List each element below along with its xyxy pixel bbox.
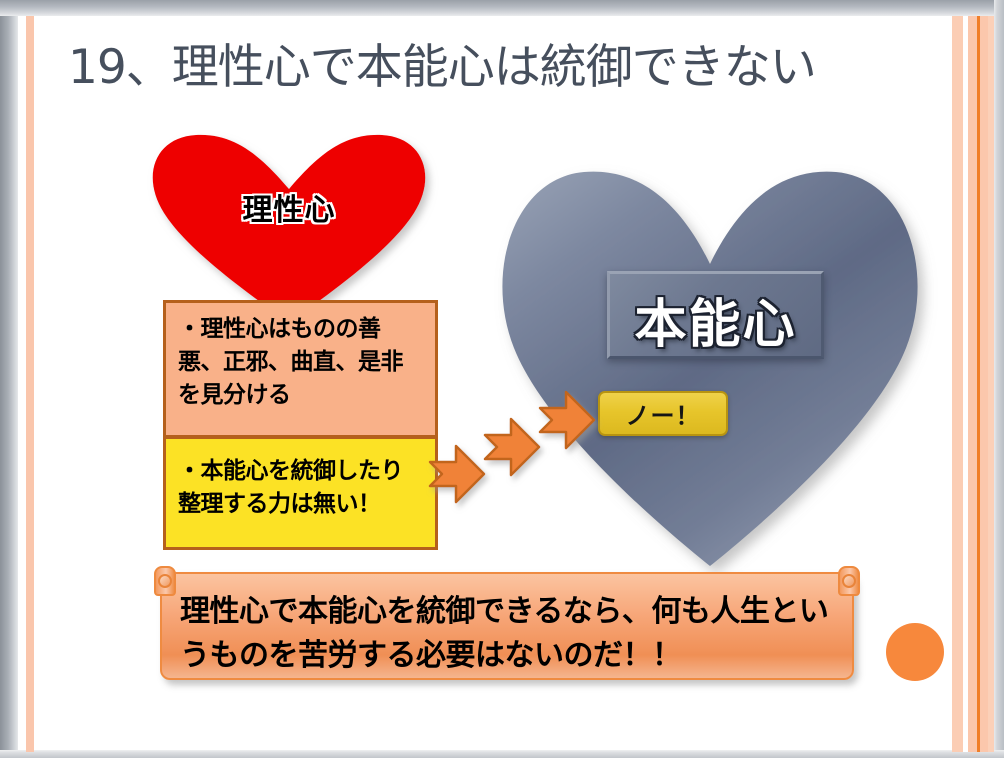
decor-stripe-right-3 [988,16,994,752]
decor-circle [886,623,944,681]
page-title: 19、理性心で本能心は統御できない [68,38,816,98]
frame-border-right [994,0,1004,758]
rational-limits-box: ・本能心を統御したり整理する力は無い！ [163,437,438,550]
decor-stripe-left [26,16,34,752]
decor-stripe-right-line [977,16,980,752]
chevron-arrow-right-icon-1 [430,446,484,502]
frame-border-left [0,0,18,758]
decor-stripe-right-1 [952,16,963,752]
slide-canvas: 19、理性心で本能心は統御できない 理性心 [0,0,1004,758]
scroll-curl-right-inner-icon [842,574,856,588]
chevron-arrow-right-icon-3 [540,392,594,448]
rational-traits-box: ・理性心はものの善悪、正邪、曲直、是非を見分ける [163,300,438,437]
frame-border-top [0,0,1004,16]
scroll-curl-left-inner-icon [158,574,172,588]
conclusion-banner: 理性心で本能心を統御できるなら、何も人生というものを苦労する必要はないのだ！！ [148,566,866,688]
chevron-arrow-right-icon-2 [485,419,539,475]
chevron-arrow-right-icon-group [430,380,620,510]
conclusion-banner-text: 理性心で本能心を統御できるなら、何も人生というものを苦労する必要はないのだ！！ [180,590,840,678]
instinct-heart-label: 本能心 [607,275,824,363]
rational-heart-label: 理性心 [148,185,430,229]
frame-border-bottom [0,750,1004,758]
